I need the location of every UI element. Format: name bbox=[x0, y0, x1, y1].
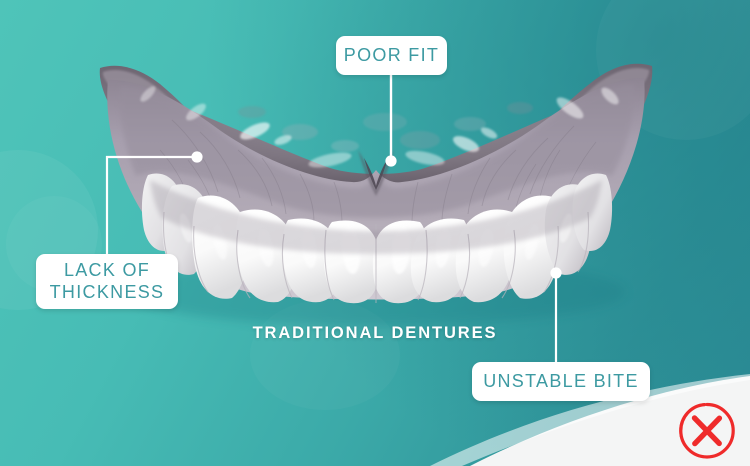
callout-label-unstable-bite[interactable]: UNSTABLE BITE bbox=[472, 362, 650, 401]
red-x-circle-icon bbox=[676, 400, 738, 462]
caption-title: TRADITIONAL DENTURES bbox=[0, 324, 750, 343]
callout-label-poor-fit[interactable]: POOR FIT bbox=[336, 36, 447, 75]
infographic-canvas: POOR FIT LACK OF THICKNESS UNSTABLE BITE… bbox=[0, 0, 750, 466]
callout-label-lack-of-thickness[interactable]: LACK OF THICKNESS bbox=[36, 254, 178, 309]
